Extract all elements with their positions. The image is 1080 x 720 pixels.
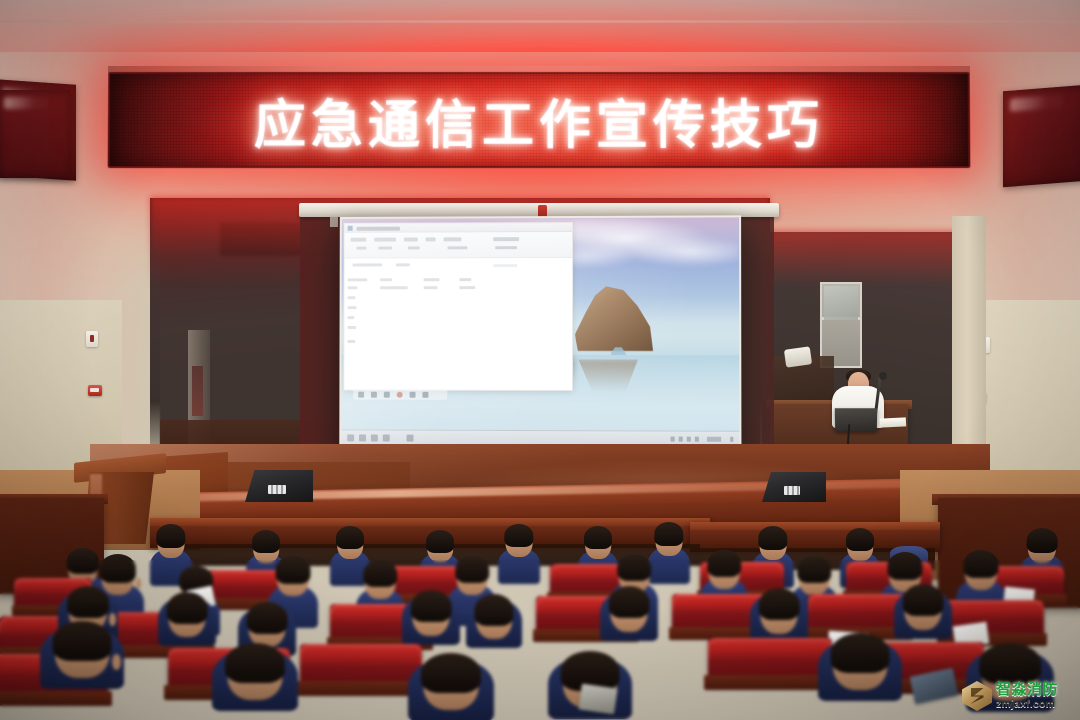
audience-person-foreground bbox=[40, 624, 124, 720]
ceiling-seam bbox=[0, 20, 1080, 22]
watermark-brand-url: zmjaxf.com bbox=[996, 699, 1058, 710]
person-hair bbox=[1027, 528, 1058, 553]
seat-back-cushion bbox=[300, 644, 422, 665]
audience-person bbox=[498, 526, 540, 584]
content-line bbox=[424, 278, 440, 281]
person-hair bbox=[167, 592, 208, 624]
wall-display-left-inner bbox=[0, 90, 70, 178]
zm-diamond-logo-icon bbox=[962, 681, 992, 711]
person-hair bbox=[888, 552, 923, 580]
content-line bbox=[396, 263, 410, 266]
speaker-papers bbox=[880, 417, 906, 427]
ribbon-item bbox=[493, 237, 519, 241]
content-line bbox=[493, 264, 517, 267]
person-hair bbox=[252, 530, 280, 553]
window-content-area bbox=[344, 258, 572, 390]
tray-icon bbox=[679, 437, 683, 442]
wall-display-right bbox=[1003, 85, 1080, 188]
person-hair bbox=[609, 586, 650, 619]
tray-icon bbox=[671, 437, 675, 442]
cup-object bbox=[578, 684, 617, 715]
taskbar-search-icon bbox=[359, 434, 366, 441]
ribbon-item bbox=[351, 238, 367, 242]
white-object-on-cabinet bbox=[784, 346, 812, 367]
ribbon-item bbox=[374, 238, 396, 242]
person-hair bbox=[100, 554, 136, 583]
person-hair bbox=[797, 556, 831, 583]
person-hair bbox=[421, 653, 481, 693]
desk-surface bbox=[690, 522, 940, 530]
photo-scene: 应急通信工作宣传技巧 bbox=[0, 0, 1080, 720]
content-line bbox=[348, 278, 368, 281]
auditorium-seat bbox=[300, 644, 422, 692]
content-line bbox=[347, 316, 354, 319]
taskbar-app-icon bbox=[383, 435, 390, 442]
ribbon-item bbox=[426, 237, 436, 241]
person-hair bbox=[336, 526, 364, 549]
audience-area bbox=[0, 496, 1080, 720]
tray-clock bbox=[707, 437, 721, 442]
screen-right-shadow bbox=[738, 214, 774, 450]
person-hair bbox=[426, 530, 454, 552]
auditorium-seat bbox=[708, 638, 832, 686]
person-hair bbox=[455, 556, 489, 583]
ribbon-item bbox=[378, 247, 392, 250]
person-hair bbox=[53, 621, 112, 661]
content-line bbox=[380, 286, 408, 289]
person-hair bbox=[474, 594, 513, 626]
person-hair bbox=[758, 526, 787, 550]
person-hair bbox=[276, 556, 311, 584]
content-line bbox=[347, 340, 355, 343]
ribbon-item bbox=[408, 246, 420, 249]
person-hair bbox=[363, 560, 397, 587]
tray-icon bbox=[687, 437, 691, 442]
speaker-laptop bbox=[835, 408, 877, 431]
show-desktop-icon bbox=[730, 437, 733, 442]
desktop-dock bbox=[353, 389, 448, 400]
person-hair bbox=[707, 550, 741, 577]
person-hair bbox=[584, 526, 612, 549]
led-banner-text: 应急通信工作宣传技巧 bbox=[110, 83, 969, 158]
taskbar-app-icon bbox=[407, 435, 414, 442]
person-hair bbox=[964, 550, 999, 578]
watermark-brand-cn: 智淼消防 bbox=[996, 682, 1058, 697]
content-line bbox=[424, 286, 438, 289]
window-glass bbox=[824, 286, 858, 320]
led-banner: 应急通信工作宣传技巧 bbox=[108, 72, 971, 168]
audience-person-foreground bbox=[408, 656, 494, 720]
projection-screen bbox=[339, 215, 741, 449]
seat-back-cushion bbox=[708, 638, 832, 659]
audience-person-foreground bbox=[212, 646, 298, 720]
ribbon-item bbox=[404, 237, 418, 241]
content-line bbox=[459, 278, 471, 281]
window-app-icon bbox=[348, 226, 353, 231]
person-hair bbox=[156, 524, 185, 548]
wall-pillar-right bbox=[952, 216, 986, 466]
dock-icon bbox=[384, 392, 390, 398]
dock-icon bbox=[371, 392, 377, 398]
content-line bbox=[380, 278, 392, 281]
person-hair bbox=[654, 522, 683, 546]
dock-icon bbox=[358, 392, 364, 398]
dock-icon bbox=[410, 392, 416, 398]
ribbon-item bbox=[444, 237, 462, 241]
person-hair bbox=[504, 524, 533, 547]
screen-drop-tab bbox=[330, 216, 338, 227]
taskbar-start-icon bbox=[347, 434, 354, 441]
desk-surface bbox=[150, 518, 710, 526]
window-title-text bbox=[357, 226, 400, 230]
person-hair bbox=[225, 643, 285, 683]
person-hair bbox=[831, 633, 890, 673]
screen-left-shadow bbox=[300, 214, 340, 450]
person-hair bbox=[67, 586, 109, 619]
seat-back-cushion bbox=[940, 600, 1044, 618]
person-hair bbox=[411, 590, 452, 623]
dock-icon bbox=[397, 392, 403, 398]
person-hair bbox=[617, 554, 651, 581]
ribbon-item bbox=[447, 246, 467, 249]
fire-call-point-icon-left bbox=[88, 385, 102, 396]
person-hair bbox=[247, 602, 288, 634]
ribbon-item bbox=[495, 246, 517, 249]
right-recess-red-wash bbox=[762, 230, 958, 286]
desktop-application-window bbox=[343, 222, 572, 391]
content-line bbox=[347, 306, 356, 309]
content-line bbox=[347, 326, 356, 329]
ribbon-item bbox=[356, 247, 366, 250]
seat-frame bbox=[296, 681, 425, 696]
taskbar-app-icon bbox=[371, 434, 378, 441]
content-line bbox=[459, 286, 475, 289]
watermark-text: 智淼消防 zmjaxf.com bbox=[996, 682, 1058, 710]
person-hair bbox=[759, 588, 800, 621]
content-line bbox=[348, 286, 358, 289]
window-ribbon-toolbar bbox=[345, 232, 572, 259]
person-ear bbox=[136, 578, 142, 590]
content-line bbox=[353, 263, 383, 266]
person-hair bbox=[846, 528, 874, 551]
tray-icon bbox=[695, 437, 699, 442]
content-line bbox=[348, 296, 356, 299]
microphone-icon bbox=[879, 372, 887, 380]
dock-icon bbox=[422, 392, 428, 398]
person-hair bbox=[903, 584, 944, 617]
watermark: 智淼消防 zmjaxf.com bbox=[962, 676, 1074, 716]
smoke-detector-icon-left bbox=[86, 331, 98, 347]
seat-frame bbox=[704, 675, 835, 690]
audience-person-foreground bbox=[818, 636, 902, 720]
